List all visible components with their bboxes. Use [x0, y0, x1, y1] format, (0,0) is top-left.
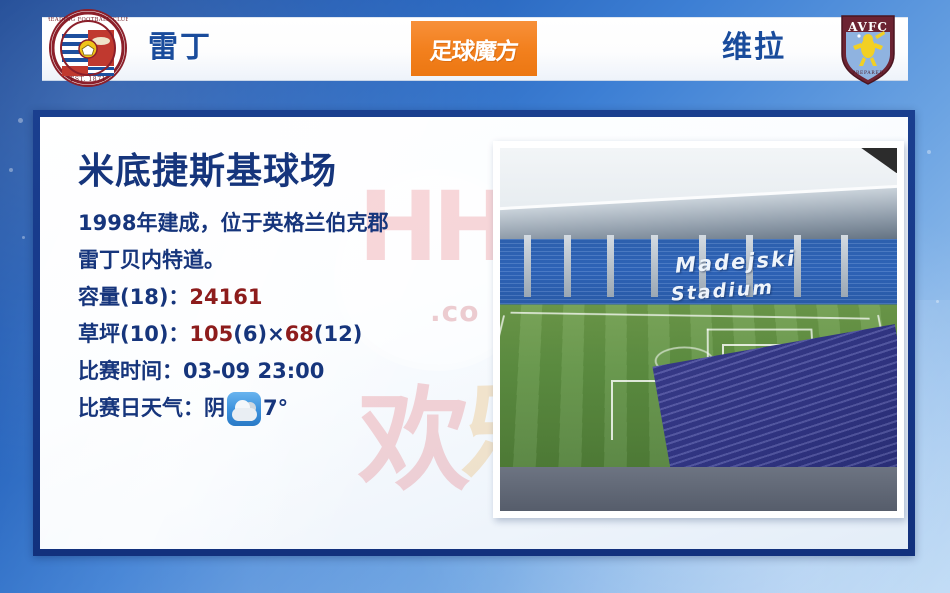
stadium-description-line-1: 1998年建成，位于英格兰伯克郡 [78, 205, 498, 242]
stadium-info-text: 米底捷斯基球场 1998年建成，位于英格兰伯克郡 雷丁贝内特道。 容量(18)：… [78, 149, 498, 427]
capacity-row: 容量(18)：24161 [78, 279, 498, 316]
home-team-name: 雷丁 [148, 30, 212, 66]
match-stadium-info-screen: READING FOOTBALL CLUB EST. 1871 雷丁 足球魔方 … [0, 0, 950, 593]
match-header: READING FOOTBALL CLUB EST. 1871 雷丁 足球魔方 … [0, 0, 950, 95]
pitch-length-rank: (6) [233, 322, 267, 346]
stadium-photo-image: Madejski Stadium [500, 148, 897, 511]
svg-text:READING FOOTBALL CLUB: READING FOOTBALL CLUB [48, 17, 128, 23]
background-speck [936, 300, 939, 303]
cloudy-weather-icon [227, 392, 261, 426]
aston-villa-crest[interactable]: AVFC PREPARED [828, 8, 908, 88]
stadium-info-panel-inner: HHH .co 乐 欢 米底捷斯基球场 1998年建成，位于英格兰伯克郡 雷丁贝… [40, 117, 908, 549]
weather-condition: 阴 [204, 390, 225, 427]
brand-logo-text: 足球魔方 [429, 32, 519, 66]
brand-logo[interactable]: 足球魔方 [411, 21, 537, 76]
pitch-size-separator: × [267, 322, 285, 346]
match-time-row: 比赛时间：03-09 23:00 [78, 353, 498, 390]
pitch-length-value: 105 [189, 322, 233, 346]
svg-text:AVFC: AVFC [847, 20, 888, 34]
svg-text:PREPARED: PREPARED [852, 71, 884, 76]
stadium-title: 米底捷斯基球场 [78, 149, 498, 195]
stadium-description-line-2: 雷丁贝内特道。 [78, 242, 498, 279]
pitch-size-label: 草坪(10)： [78, 322, 189, 346]
pitch-width-value: 68 [285, 322, 314, 346]
pitch-width-rank: (12) [314, 322, 362, 346]
weather-temperature: 7° [263, 390, 288, 427]
match-time-value: 03-09 23:00 [183, 359, 324, 383]
background-speck [18, 118, 23, 123]
match-time-label: 比赛时间： [78, 359, 183, 383]
capacity-value: 24161 [189, 285, 262, 309]
capacity-label: 容量(18)： [78, 285, 189, 309]
background-speck [9, 168, 13, 172]
madejski-stadium-photo[interactable]: Madejski Stadium [493, 141, 904, 518]
background-speck [22, 236, 25, 239]
svg-text:EST. 1871: EST. 1871 [70, 76, 106, 83]
reading-fc-crest[interactable]: READING FOOTBALL CLUB EST. 1871 [48, 8, 128, 88]
stadium-info-panel: HHH .co 乐 欢 米底捷斯基球场 1998年建成，位于英格兰伯克郡 雷丁贝… [33, 110, 915, 556]
match-weather-row: 比赛日天气：阴 7° [78, 390, 498, 427]
background-speck [927, 150, 931, 154]
weather-label: 比赛日天气： [78, 390, 204, 427]
pitch-size-row: 草坪(10)：105(6)×68(12) [78, 316, 498, 353]
away-team-name: 维拉 [722, 30, 786, 66]
